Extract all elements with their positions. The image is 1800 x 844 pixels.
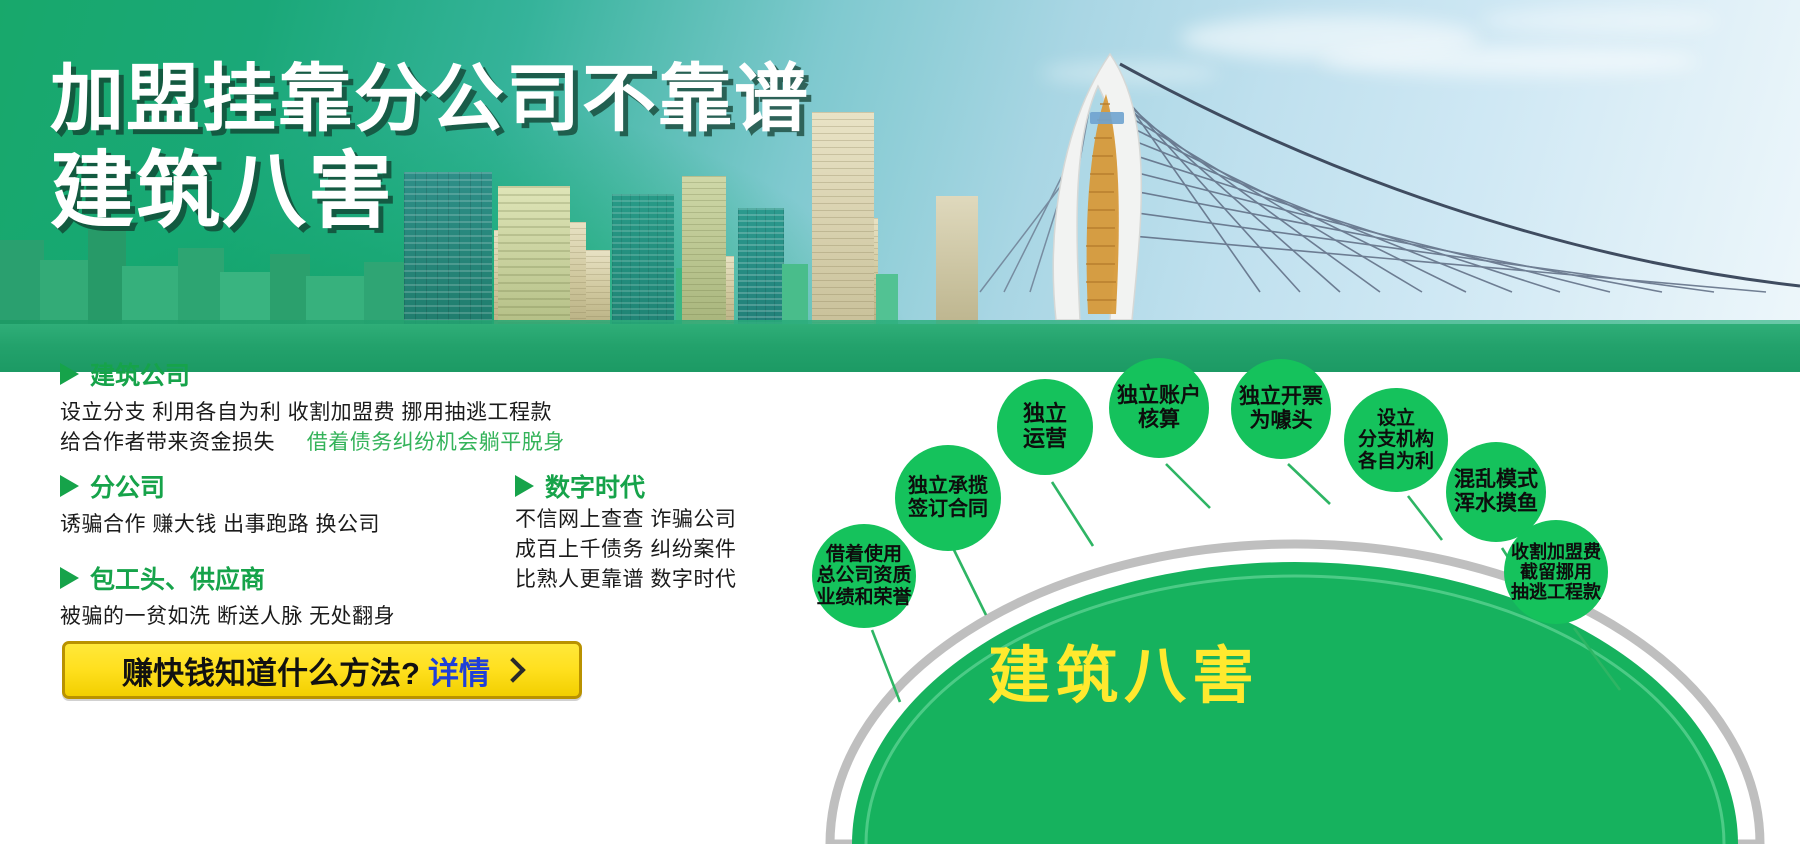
section-heading-branch-company: 分公司 [60,468,165,504]
hero-headline: 加盟挂靠分公司不靠谱 建筑八害 [50,56,810,240]
bubble-line: 抽逃工程款 [1511,582,1601,602]
hero-banner: 加盟挂靠分公司不靠谱 建筑八害 [0,0,1800,372]
bubble-line: 截留挪用 [1520,562,1592,582]
bubble-line: 业绩和荣誉 [816,587,911,608]
bubble-item[interactable]: 独立承揽 签订合同 [895,445,1001,551]
bubble-line: 独立 [1023,402,1067,427]
bubble-line: 浑水摸鱼 [1454,492,1538,516]
bubble-line: 核算 [1138,408,1180,432]
bubble-item[interactable]: 独立 运营 [997,379,1093,475]
headline-line-1: 加盟挂靠分公司不靠谱 [50,56,810,142]
section-heading-label: 分公司 [90,468,165,504]
section-body-line: 被骗的一贫如洗 断送人脉 无处翻身 [60,600,395,630]
bubble-line: 总公司资质 [816,565,911,586]
section-body-line: 比熟人更靠谱 数字时代 [515,563,736,593]
ground-strip [0,324,1800,372]
chevron-right-icon [500,657,525,682]
bubble-line: 运营 [1023,427,1067,452]
section-body-line-with-accent: 给合作者带来资金损失 借着债务纠纷机会躺平脱身 [60,426,565,456]
bubble-line: 签订合同 [908,498,988,521]
section-body-line: 成百上千债务 纠纷案件 [515,533,736,563]
section-body-line: 不信网上查查 诈骗公司 [515,503,736,533]
cta-main-label: 赚快钱知道什么方法? [122,648,420,693]
bubble-line: 混乱模式 [1454,468,1538,492]
bubble-line: 各自为利 [1358,451,1434,472]
liede-bridge [960,24,1800,324]
bubble-item[interactable]: 独立开票 为噱头 [1231,359,1331,459]
tower-tall-a [812,112,874,326]
body-plain-text: 给合作者带来资金损失 [60,431,275,454]
section-heading-label: 数字时代 [545,468,645,504]
bubble-line: 独立开票 [1239,385,1323,409]
bubble-line: 独立账户 [1117,384,1201,408]
bubble-diagram: 建筑八害 借着使用 总公司资质 业绩和荣誉 独立承揽 签订合同 独立 运营 独立… [790,372,1800,844]
triangle-bullet-icon [60,567,79,589]
bubble-item[interactable]: 设立 分支机构 各自为利 [1344,388,1448,492]
bubble-line: 借着使用 [826,544,902,565]
section-heading-contractor-supplier: 包工头、供应商 [60,560,265,596]
dome-label: 建筑八害 [988,625,1260,715]
bubble-line: 为噱头 [1250,409,1313,433]
section-heading-label: 包工头、供应商 [90,560,265,596]
cta-detail-link[interactable]: 详情 [428,648,490,693]
section-heading-digital-era: 数字时代 [515,468,645,504]
bubble-line: 独立承揽 [908,475,988,498]
bubble-item[interactable]: 独立账户 核算 [1109,358,1209,458]
section-heading-label: 建筑公司 [90,356,190,392]
body-accent-text: 借着债务纠纷机会躺平脱身 [307,431,565,454]
section-heading-construction-company: 建筑公司 [60,356,190,392]
bubble-item[interactable]: 借着使用 总公司资质 业绩和荣誉 [812,524,916,628]
triangle-bullet-icon [60,475,79,497]
section-body-line: 诱骗合作 赚大钱 出事跑路 换公司 [60,508,380,538]
bubble-line: 分支机构 [1358,429,1434,450]
headline-line-2: 建筑八害 [50,142,810,240]
triangle-bullet-icon [515,475,534,497]
bubble-line: 设立 [1377,408,1415,429]
bubble-item[interactable]: 收割加盟费 截留挪用 抽逃工程款 [1504,520,1608,624]
section-body-line: 设立分支 利用各自为利 收割加盟费 挪用抽逃工程款 [60,396,552,426]
bubble-line: 收割加盟费 [1511,542,1601,562]
cta-button[interactable]: 赚快钱知道什么方法? 详情 [62,641,582,699]
triangle-bullet-icon [60,363,79,385]
